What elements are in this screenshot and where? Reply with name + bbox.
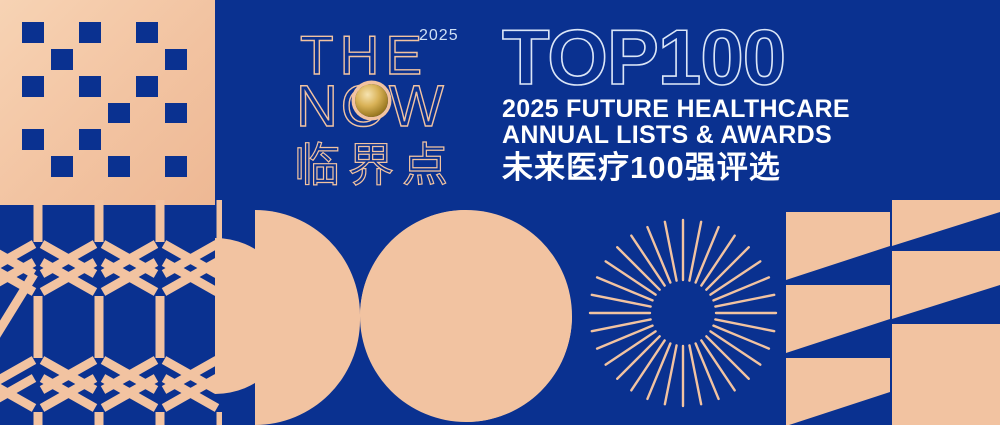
brand-logo: THE 2025 NOW 临界点 <box>292 18 487 188</box>
subtitle-line-2: ANNUAL LISTS & AWARDS <box>502 123 922 149</box>
checker-cell <box>136 22 158 43</box>
checker-cell <box>22 76 44 97</box>
checker-cell <box>79 129 101 150</box>
checker-cell <box>79 76 101 97</box>
gold-sphere-icon <box>355 84 388 117</box>
starburst-svg <box>588 218 778 408</box>
banner-root: THE 2025 NOW 临界点 TOP100 2025 FUTURE HEAL… <box>0 0 1000 425</box>
logo-chinese-name: 临界点 <box>294 142 456 188</box>
checker-cell <box>22 129 44 150</box>
diagonal-stripe-pattern <box>786 200 1000 425</box>
notched-circle-svg <box>360 210 572 422</box>
checker-cell <box>165 49 187 70</box>
top100-title: TOP100 <box>502 20 922 94</box>
headline-block: TOP100 2025 FUTURE HEALTHCARE ANNUAL LIS… <box>502 20 922 185</box>
notched-circle-shape <box>360 210 572 422</box>
checker-cell <box>165 103 187 124</box>
checker-cell <box>51 156 73 177</box>
half-circle-shape <box>255 210 360 425</box>
checker-cell <box>51 49 73 70</box>
checkerboard-pattern <box>0 0 215 205</box>
checker-cell <box>79 22 101 43</box>
logo-year-superscript: 2025 <box>419 27 459 45</box>
checker-cell <box>136 76 158 97</box>
checker-cell <box>108 156 130 177</box>
checker-cell <box>108 103 130 124</box>
hexagon-lattice-svg <box>0 200 222 425</box>
chinese-subtitle: 未来医疗100强评选 <box>502 150 922 185</box>
checker-cell <box>22 22 44 43</box>
diagonal-stripe-svg <box>786 200 1000 425</box>
subtitle-line-1: 2025 FUTURE HEALTHCARE <box>502 97 922 123</box>
starburst-icon <box>588 218 778 408</box>
hexagon-lattice-pattern <box>0 200 222 425</box>
checker-cell <box>165 156 187 177</box>
